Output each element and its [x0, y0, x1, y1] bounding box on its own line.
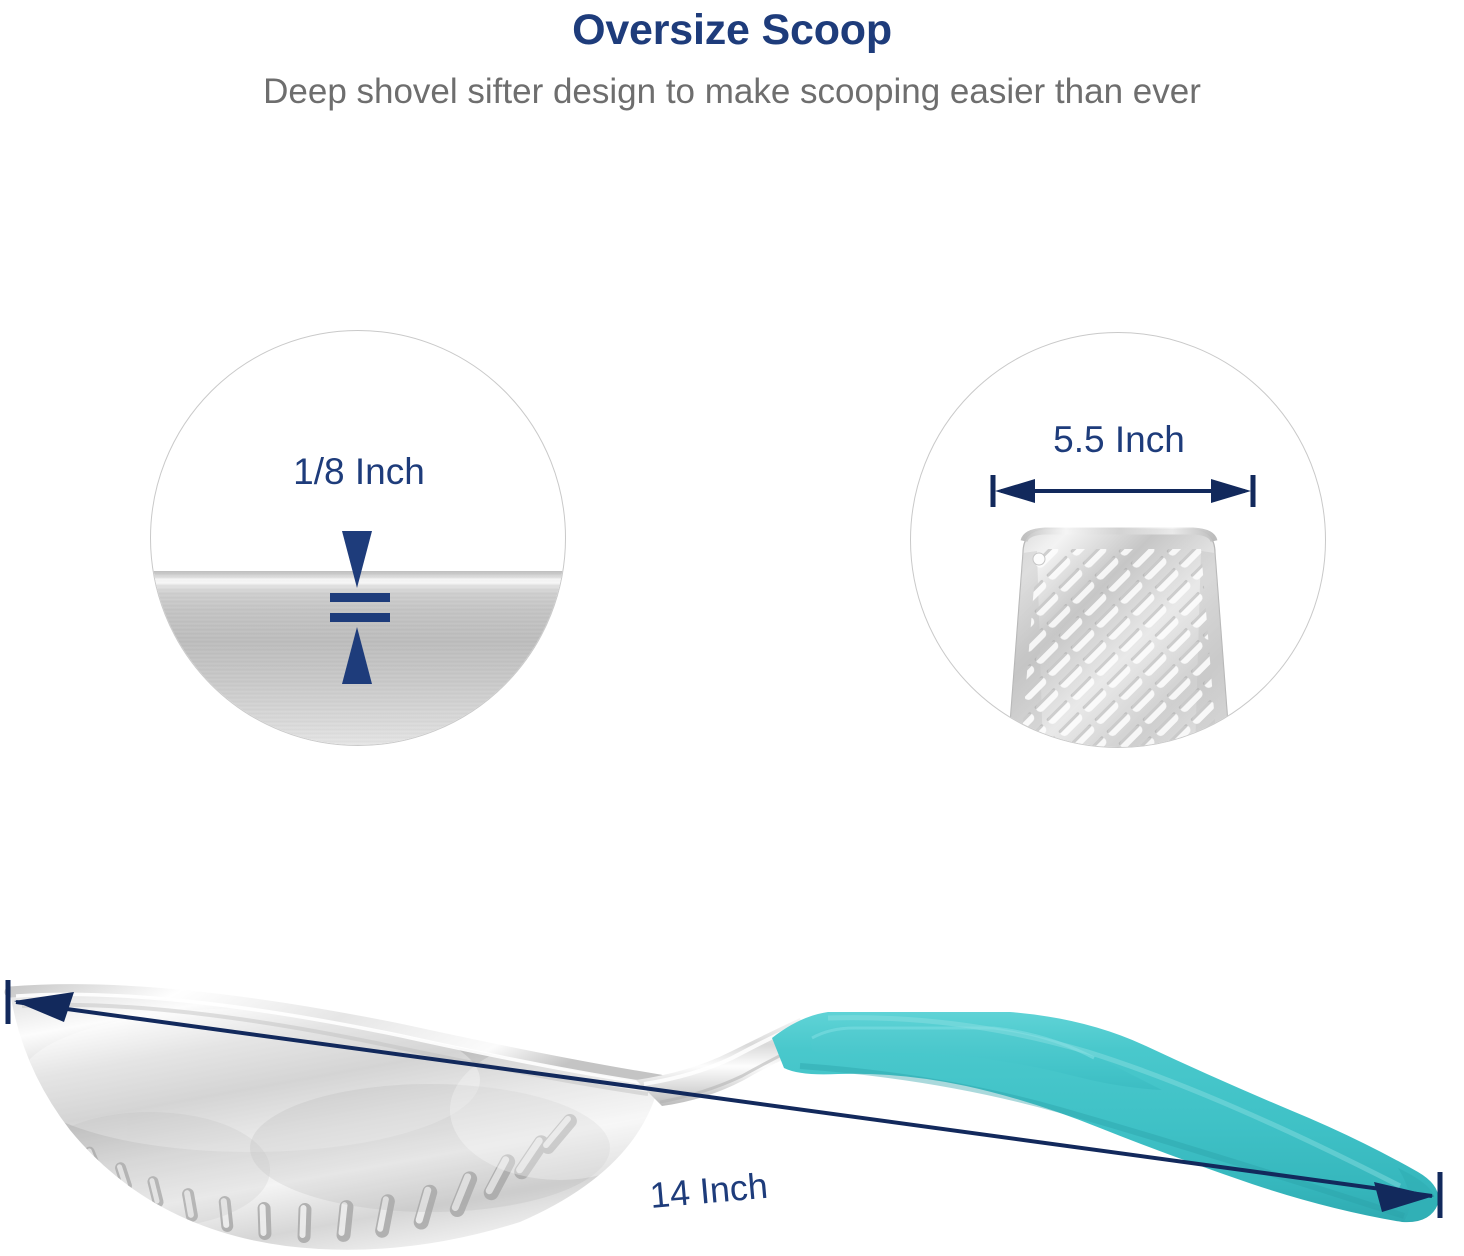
arrow-up-icon	[342, 627, 372, 684]
thickness-bar-bottom	[330, 613, 390, 622]
page-title: Oversize Scoop	[0, 0, 1464, 54]
thickness-measurement-label: 1/8 Inch	[151, 453, 566, 490]
inset-width-circle: 5.5 Inch	[910, 332, 1326, 748]
dimension-arrow-5-5-inch	[989, 473, 1257, 509]
thickness-bar-top	[330, 593, 390, 602]
header: Oversize Scoop Deep shovel sifter design…	[0, 0, 1464, 112]
arrow-down-icon	[342, 531, 372, 588]
scoop-head-graphic	[993, 525, 1245, 748]
width-measurement-label: 5.5 Inch	[911, 421, 1326, 458]
page-subtitle: Deep shovel sifter design to make scoopi…	[0, 54, 1464, 112]
inset-thickness-circle: 1/8 Inch	[150, 330, 566, 746]
arrow-left-icon	[995, 479, 1035, 503]
length-measurement-label: 14 Inch	[648, 1168, 769, 1214]
arrow-right-icon	[1211, 479, 1251, 503]
